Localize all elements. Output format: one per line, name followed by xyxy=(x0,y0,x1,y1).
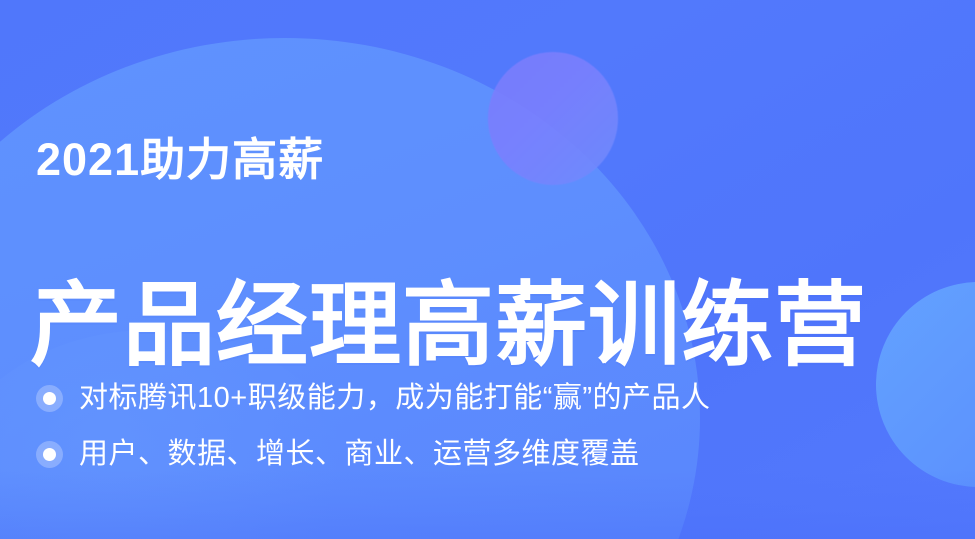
banner-content: 2021助力高薪 产品经理高薪训练营 对标腾讯10+职级能力，成为能打能“赢”的… xyxy=(0,0,975,539)
list-item-label: 用户、数据、增长、商业、运营多维度覆盖 xyxy=(79,440,640,469)
promo-banner: 2021助力高薪 产品经理高薪训练营 对标腾讯10+职级能力，成为能打能“赢”的… xyxy=(0,0,975,539)
list-item: 对标腾讯10+职级能力，成为能打能“赢”的产品人 xyxy=(36,370,956,426)
banner-feature-list: 对标腾讯10+职级能力，成为能打能“赢”的产品人 用户、数据、增长、商业、运营多… xyxy=(36,370,956,482)
bullet-dot-icon xyxy=(36,441,63,468)
bullet-dot-icon xyxy=(36,385,63,412)
banner-headline: 产品经理高薪训练营 xyxy=(30,275,867,378)
list-item: 用户、数据、增长、商业、运营多维度覆盖 xyxy=(36,426,956,482)
list-item-label: 对标腾讯10+职级能力，成为能打能“赢”的产品人 xyxy=(79,384,711,413)
banner-eyebrow: 2021助力高薪 xyxy=(36,137,324,182)
